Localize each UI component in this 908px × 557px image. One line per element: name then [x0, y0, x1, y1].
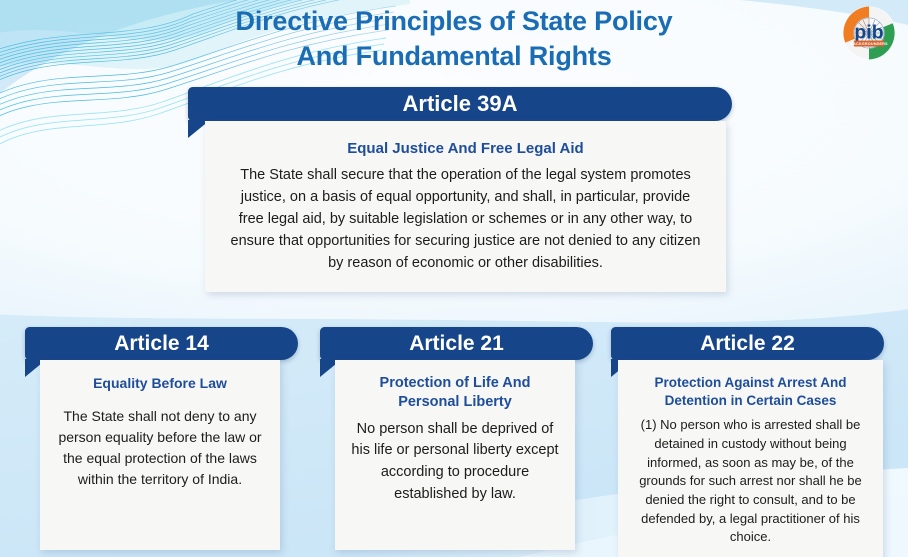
article-14-banner-label: Article 14: [25, 327, 298, 360]
article-39a-body-card: Equal Justice And Free Legal Aid The Sta…: [205, 121, 726, 292]
article-card-39a: Article 39A Equal Justice And Free Legal…: [180, 87, 732, 292]
article-card-22: Article 22 Protection Against Arrest And…: [604, 327, 884, 557]
article-21-banner-label: Article 21: [320, 327, 593, 360]
article-14-banner: Article 14: [25, 327, 298, 360]
article-21-banner: Article 21: [320, 327, 593, 360]
page-title: Directive Principles of State Policy And…: [0, 4, 908, 73]
article-39a-text: The State shall secure that the operatio…: [227, 164, 704, 274]
article-card-21: Article 21 Protection of Life And Person…: [313, 327, 593, 550]
article-22-text: (1) No person who is arrested shall be d…: [630, 416, 871, 547]
pib-backgrounders-logo: pib BACKGROUNDERS: [842, 6, 896, 60]
article-22-banner: Article 22: [611, 327, 884, 360]
article-14-text: The State shall not deny to any person e…: [52, 406, 268, 490]
article-22-body-card: Protection Against Arrest And Detention …: [618, 360, 883, 557]
article-21-subtitle: Protection of Life And Personal Liberty: [347, 374, 563, 412]
page-title-line-1: Directive Principles of State Policy: [236, 6, 673, 36]
article-14-subtitle: Equality Before Law: [52, 374, 268, 392]
header: Directive Principles of State Policy And…: [0, 0, 908, 86]
article-card-14: Article 14 Equality Before Law The State…: [18, 327, 298, 550]
article-39a-banner-label: Article 39A: [188, 87, 732, 121]
article-39a-banner: Article 39A: [188, 87, 732, 121]
article-39a-subtitle: Equal Justice And Free Legal Aid: [227, 140, 704, 157]
article-21-body-card: Protection of Life And Personal Liberty …: [335, 360, 575, 550]
page-title-line-2: And Fundamental Rights: [0, 39, 908, 74]
article-21-text: No person shall be deprived of his life …: [347, 419, 563, 506]
article-22-subtitle: Protection Against Arrest And Detention …: [630, 374, 871, 409]
logo-wordmark: pib: [854, 21, 883, 43]
article-22-banner-label: Article 22: [611, 327, 884, 360]
logo-subtext: BACKGROUNDERS: [850, 42, 888, 46]
article-14-body-card: Equality Before Law The State shall not …: [40, 360, 280, 550]
